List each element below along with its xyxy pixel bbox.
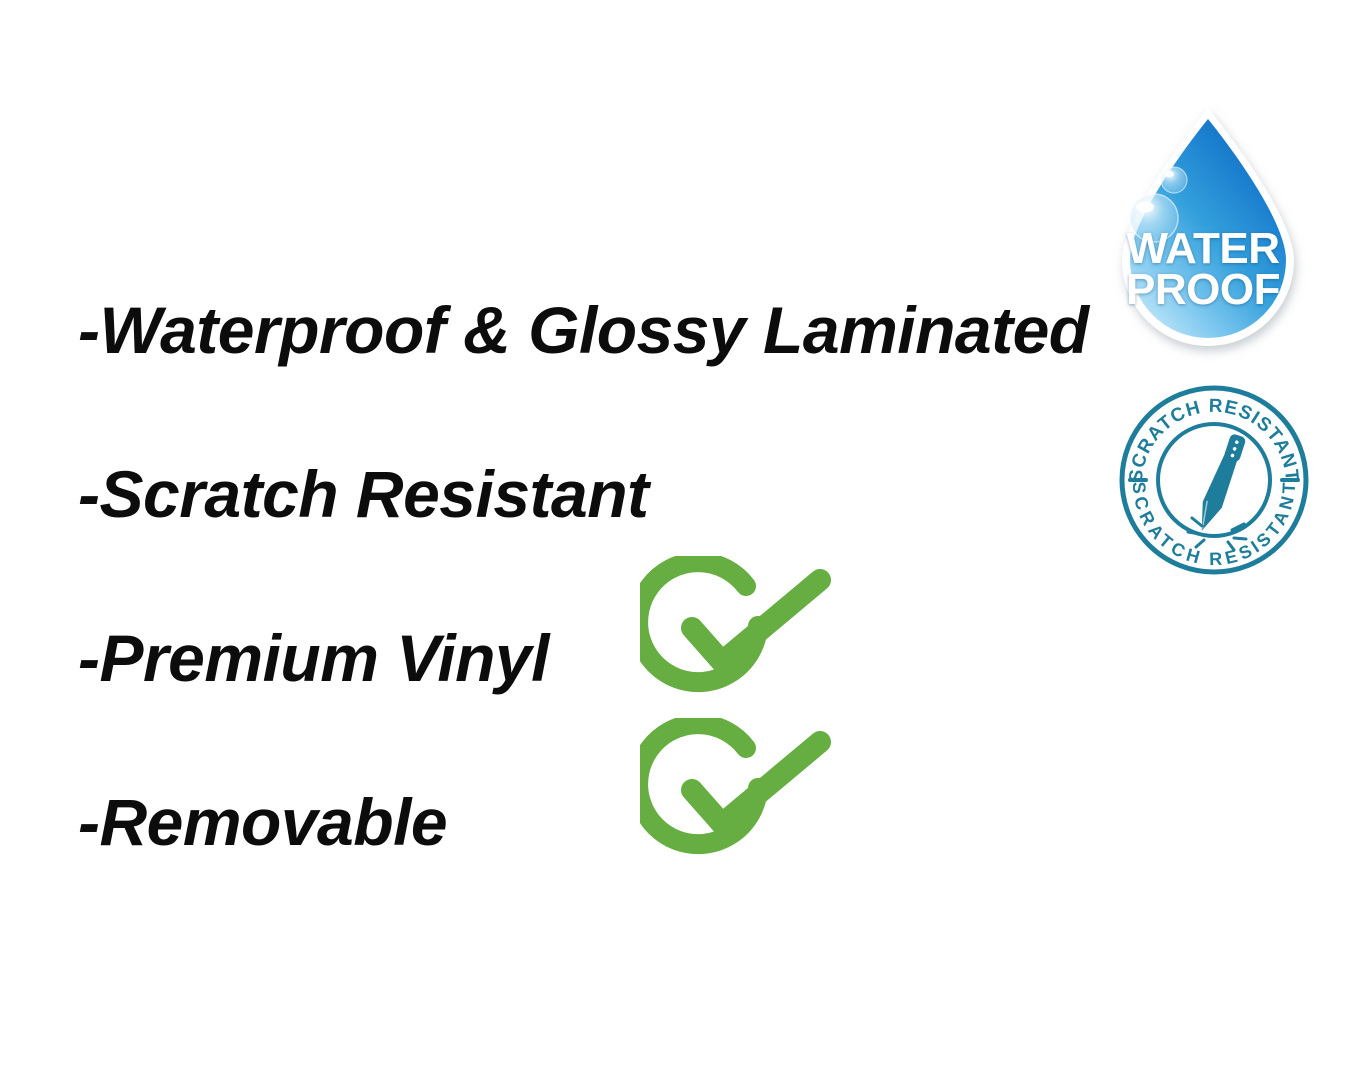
feature-list: -Waterproof & Glossy Laminated -Scratch … [78, 248, 1108, 904]
feature-label-waterproof: -Waterproof & Glossy Laminated [78, 297, 1089, 363]
feature-label-premium-vinyl: -Premium Vinyl [78, 625, 549, 691]
knife-seal-icon: SCRATCH RESISTANT SCRATCH RESISTANT [1114, 384, 1314, 576]
list-item: -Premium Vinyl [78, 576, 1108, 740]
check-circle-icon [640, 556, 840, 711]
water-drop-icon [1098, 100, 1318, 375]
waterproof-badge: WATER PROOF [1098, 100, 1318, 380]
check-circle-icon [640, 718, 840, 873]
list-item: -Removable [78, 740, 1108, 904]
product-feature-graphic: -Waterproof & Glossy Laminated -Scratch … [0, 0, 1359, 1080]
feature-label-removable: -Removable [78, 789, 447, 855]
list-item: -Waterproof & Glossy Laminated [78, 248, 1108, 412]
scratch-resistant-badge: SCRATCH RESISTANT SCRATCH RESISTANT [1114, 384, 1314, 581]
feature-label-scratch-resistant: -Scratch Resistant [78, 461, 649, 527]
list-item: -Scratch Resistant [78, 412, 1108, 576]
